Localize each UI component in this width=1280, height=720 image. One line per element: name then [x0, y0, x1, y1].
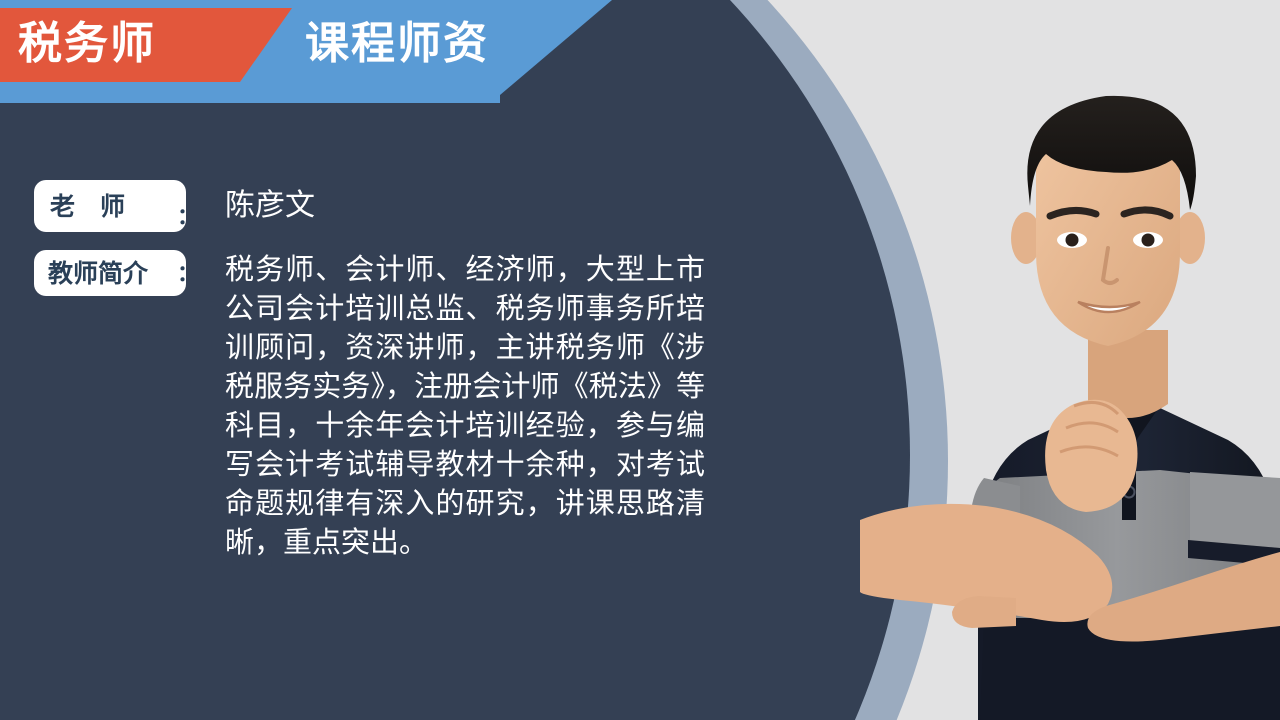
slide-root: 税务师 课程师资 老 师 ： 陈彦文 教师简介 ： 税务师、会计师、经济师，大型… — [0, 0, 1280, 720]
teacher-bio-colon: ： — [177, 264, 199, 286]
header-banner-underline — [0, 95, 500, 103]
header-tag-label: 税务师 — [18, 22, 156, 66]
teacher-bio-value: 税务师、会计师、经济师，大型上市公司会计培训总监、税务师事务所培训顾问，资深讲师… — [225, 250, 705, 562]
teacher-name-colon: ： — [177, 207, 199, 229]
teacher-name-label: 老 师 — [50, 194, 125, 219]
portrait-fingers — [952, 596, 1016, 628]
teacher-bio-label: 教师简介 — [48, 261, 148, 286]
teacher-name-label-chip: 老 师 ： — [34, 180, 186, 232]
teacher-name-value: 陈彦文 — [225, 180, 315, 232]
teacher-portrait — [860, 0, 1280, 720]
teacher-bio-row: 教师简介 ： 税务师、会计师、经济师，大型上市公司会计培训总监、税务师事务所培训… — [34, 250, 734, 562]
portrait-pupil-left — [1066, 234, 1079, 247]
portrait-sleeve-gray-right — [1190, 472, 1280, 548]
teacher-info-block: 老 师 ： 陈彦文 教师简介 ： 税务师、会计师、经济师，大型上市公司会计培训总… — [34, 180, 734, 562]
portrait-hand — [1045, 400, 1137, 512]
teacher-name-row: 老 师 ： 陈彦文 — [34, 180, 734, 232]
portrait-pupil-right — [1142, 234, 1155, 247]
page-title: 课程师资 — [305, 22, 489, 66]
teacher-bio-label-chip: 教师简介 ： — [34, 250, 186, 296]
